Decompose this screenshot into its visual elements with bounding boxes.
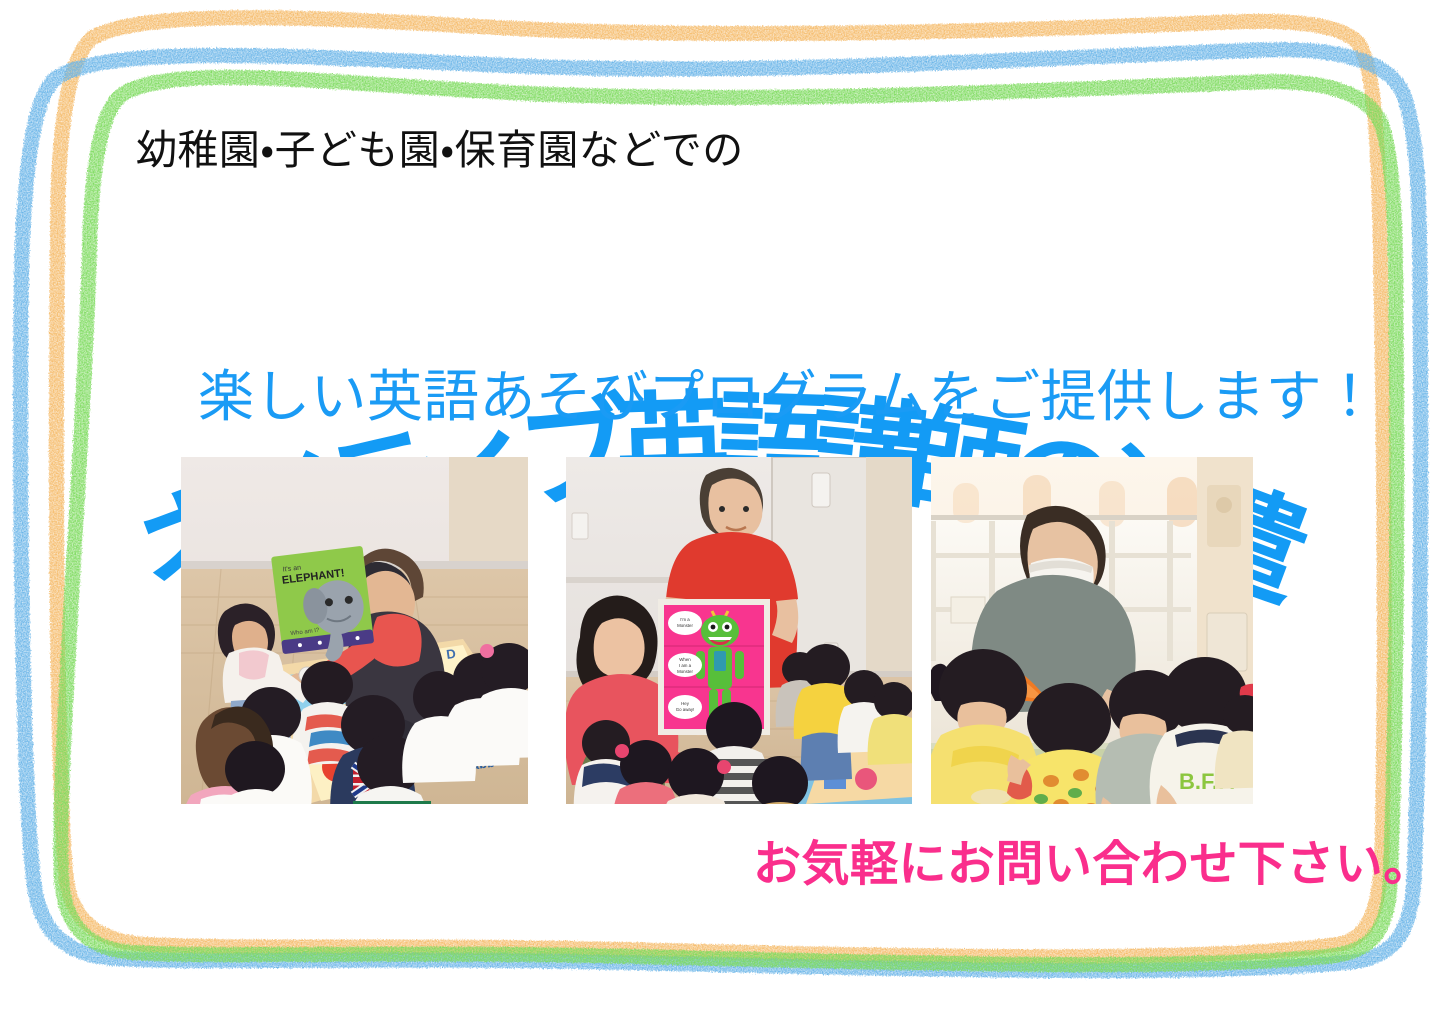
eyebrow-text: 幼稚園・子ども園・保育園などでの	[136, 128, 744, 173]
photo-carrot-toy-circle: B.F.F.	[931, 457, 1253, 804]
svg-text:Go away!: Go away!	[676, 707, 695, 712]
svg-text:When: When	[679, 657, 691, 662]
cta-text: お気軽にお問い合わせ下さい。	[753, 837, 1432, 892]
svg-text:Hey: Hey	[681, 701, 690, 706]
svg-text:Monster: Monster	[677, 623, 693, 628]
svg-text:I'm a: I'm a	[680, 617, 690, 622]
svg-text:Monster: Monster	[677, 669, 693, 674]
photo-storytime-elephant-book: Tomato Pi Rabb Yacht D	[181, 457, 528, 804]
subtitle-text: 楽しい英語あそびプログラムをご提供します！	[198, 366, 1378, 430]
photo-strip: Tomato Pi Rabb Yacht D	[0, 457, 1440, 805]
page-title: ネイティブ英語講師の派遣	[0, 196, 1440, 356]
photo-monster-poster-lesson: I'm aMonster WhenI am aMonster HeyGo awa…	[566, 457, 912, 804]
svg-text:I am a: I am a	[679, 663, 692, 668]
